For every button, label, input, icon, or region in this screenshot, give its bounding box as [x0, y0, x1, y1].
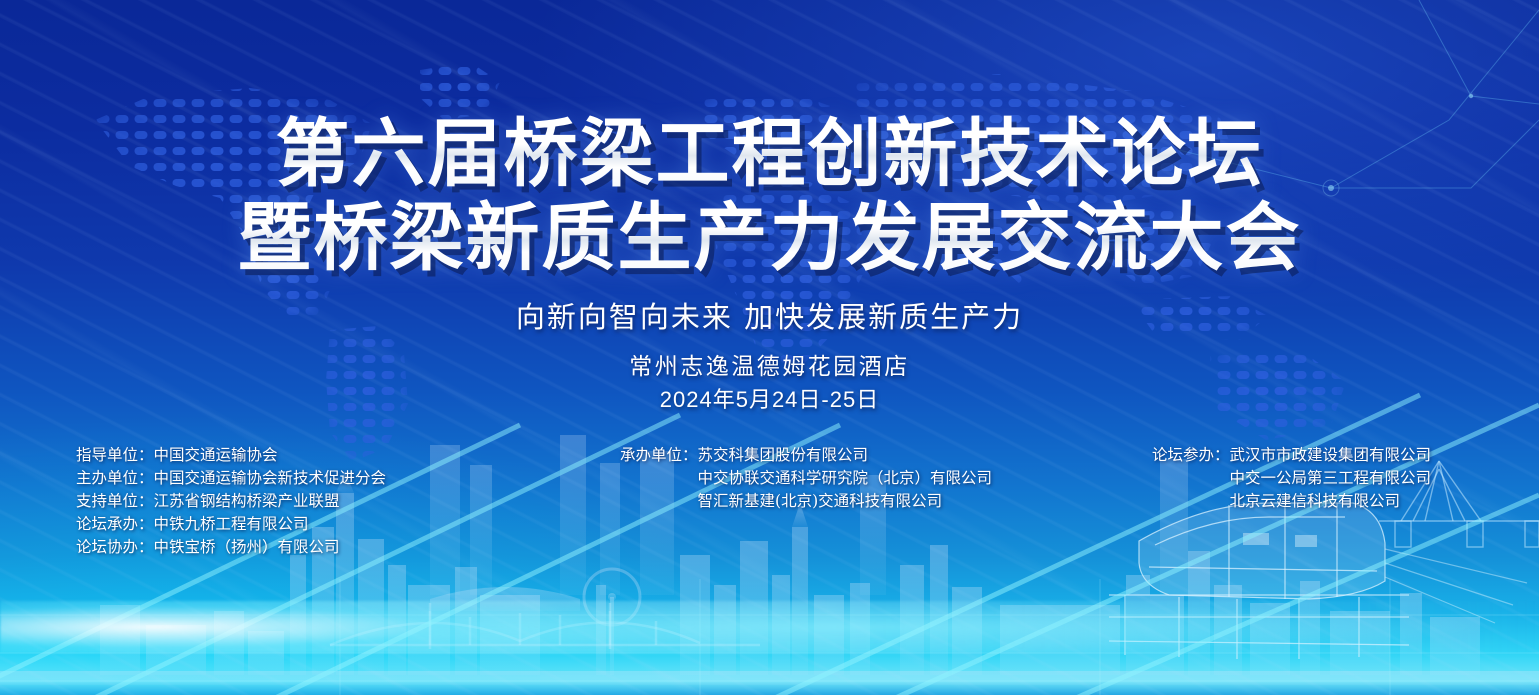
organization-row: 承办单位：苏交科集团股份有限公司 — [620, 444, 992, 467]
organization-value: 苏交科集团股份有限公司 — [698, 446, 869, 464]
organization-value: 智汇新基建(北京)交通科技有限公司 — [698, 492, 943, 510]
organization-label: 指导单位： — [76, 446, 154, 464]
title-line-1: 第六届桥梁工程创新技术论坛 — [0, 112, 1539, 196]
organizations-column-left: 指导单位：中国交通运输协会 主办单位：中国交通运输协会新技术促进分会 支持单位：… — [76, 444, 386, 559]
organization-label: 支持单位： — [76, 492, 154, 510]
organizations-section: 指导单位：中国交通运输协会 主办单位：中国交通运输协会新技术促进分会 支持单位：… — [0, 444, 1539, 564]
organization-value: 中铁九桥工程有限公司 — [154, 515, 309, 533]
organization-row: 主办单位：中国交通运输协会新技术促进分会 — [76, 467, 386, 490]
organization-value: 江苏省钢结构桥梁产业联盟 — [154, 492, 340, 510]
organization-value: 中铁宝桥（扬州）有限公司 — [154, 538, 340, 556]
venue-name: 常州志逸温德姆花园酒店 — [0, 352, 1539, 383]
organization-label: 论坛承办： — [76, 515, 154, 533]
venue-block: 常州志逸温德姆花园酒店 2024年5月24日-25日 — [0, 352, 1539, 415]
conference-banner: 第六届桥梁工程创新技术论坛 暨桥梁新质生产力发展交流大会 向新向智向未来 加快发… — [0, 0, 1539, 695]
organization-value: 中国交通运输协会新技术促进分会 — [154, 469, 387, 487]
organization-value: 武汉市市政建设集团有限公司 — [1230, 446, 1432, 464]
organization-row: 论坛参办：武汉市市政建设集团有限公司 — [1152, 444, 1431, 467]
organization-label: 主办单位： — [76, 469, 154, 487]
organization-row: 指导单位：中国交通运输协会 — [76, 444, 386, 467]
subtitle: 向新向智向未来 加快发展新质生产力 — [0, 294, 1539, 336]
organization-label: 论坛参办： — [1152, 446, 1230, 464]
organization-row: 论坛参办：北京云建信科技有限公司 — [1152, 490, 1431, 513]
organization-row: 支持单位：江苏省钢结构桥梁产业联盟 — [76, 490, 386, 513]
venue-date: 2024年5月24日-25日 — [0, 385, 1539, 415]
organization-label: 论坛协办： — [76, 538, 154, 556]
organizations-column-middle: 承办单位：苏交科集团股份有限公司 承办单位：中交协联交通科学研究院（北京）有限公… — [620, 444, 992, 513]
title-line-2: 暨桥梁新质生产力发展交流大会 — [0, 196, 1539, 280]
banner-content: 第六届桥梁工程创新技术论坛 暨桥梁新质生产力发展交流大会 向新向智向未来 加快发… — [0, 0, 1539, 695]
organization-row: 论坛承办：中铁九桥工程有限公司 — [76, 513, 386, 536]
organizations-column-right: 论坛参办：武汉市市政建设集团有限公司 论坛参办：中交一公局第三工程有限公司 论坛… — [1152, 444, 1431, 513]
organization-row: 论坛协办：中铁宝桥（扬州）有限公司 — [76, 536, 386, 559]
organization-value: 中国交通运输协会 — [154, 446, 278, 464]
organization-value: 中交一公局第三工程有限公司 — [1230, 469, 1432, 487]
organization-value: 中交协联交通科学研究院（北京）有限公司 — [698, 469, 993, 487]
organization-label: 承办单位： — [620, 446, 698, 464]
organization-row: 承办单位：中交协联交通科学研究院（北京）有限公司 — [620, 467, 992, 490]
organization-row: 承办单位：智汇新基建(北京)交通科技有限公司 — [620, 490, 992, 513]
organization-row: 论坛参办：中交一公局第三工程有限公司 — [1152, 467, 1431, 490]
title-block: 第六届桥梁工程创新技术论坛 暨桥梁新质生产力发展交流大会 — [0, 112, 1539, 281]
organization-value: 北京云建信科技有限公司 — [1230, 492, 1401, 510]
